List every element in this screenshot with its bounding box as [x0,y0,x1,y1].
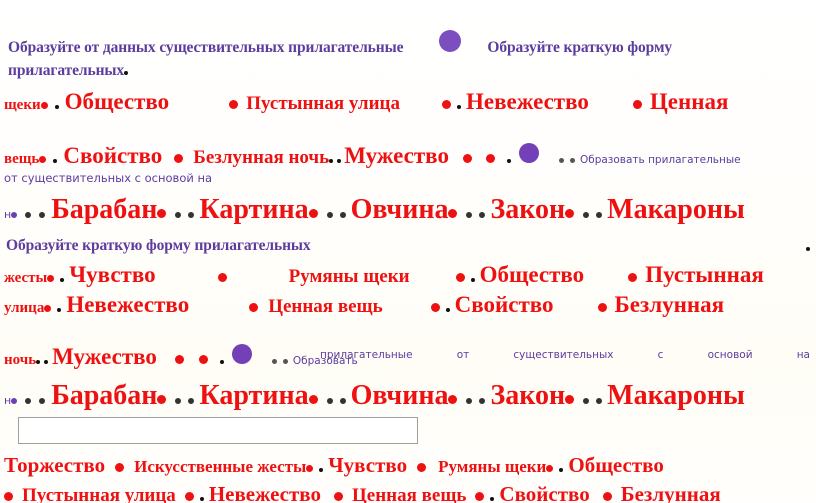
word-item: Закон [490,194,565,226]
red-bullet-icon [598,303,607,312]
word-item: Свойство [499,482,589,503]
word-item: Торжество [4,453,105,478]
word-item: Невежество [466,89,589,115]
red-bullet-icon [175,355,184,364]
black-bullet-icon [596,398,602,404]
word-item: Чувство [69,262,155,288]
black-bullet-icon [39,212,45,218]
stem-letter: н [4,394,11,407]
word-row-a: щеки Общество Пустынная улица Невежество… [4,89,816,115]
heading-line-2: прилагательных [8,62,124,80]
black-bullet-icon [319,468,323,472]
red-bullet-icon [4,492,13,501]
word-item: Овчина [351,194,449,226]
word-row-h: Торжество Искусственные жесты Чувство Ру… [4,453,816,478]
word-item: Свойство [455,292,554,318]
word-item: жесты [4,270,47,287]
word-row-g: н Барабан Картина Овчина Закон [4,380,816,412]
word-item: Безлунная [615,292,725,318]
slide-canvas: Образуйте от данных существительных прил… [0,0,816,503]
purple-bullet-icon [439,30,461,52]
word-item: Ценная вещь [352,485,466,503]
black-bullet-icon [327,398,333,404]
word-item: Макароны [607,194,745,226]
red-bullet-icon [229,100,238,109]
purple-bullet-icon [232,344,252,364]
word-item: Ценная вещь [268,296,382,318]
red-bullet-icon [39,156,46,163]
heading-line-1-row: Образуйте от данных существительных прил… [8,30,816,58]
black-bullet-icon [200,497,204,501]
word-row-i: Пустынная улица Невежество Ценная вещь С… [4,482,816,503]
word-item: Овчина [351,380,449,412]
black-bullet-icon [55,105,59,109]
instruction-word: основой [708,349,753,361]
instruction-form-adjectives: Образовать прилагательные [580,154,741,166]
word-item: Барабан [51,194,157,226]
red-bullet-icon [463,154,472,163]
instruction-justified-row: прилагательные от существительных с осно… [320,349,810,361]
black-bullet-icon [220,360,224,364]
heading-line-1-right: Образуйте краткую форму [487,39,672,57]
word-row-c: н Барабан Картина Овчина Закон [4,194,816,226]
heading-line-3-row: Образуйте краткую форму прилагательных [6,237,816,255]
stem-letter: н [4,208,11,221]
word-item: Чувство [328,453,407,478]
red-bullet-icon [306,465,313,472]
word-item: Картина [199,380,308,412]
red-bullet-icon [442,100,451,109]
word-item: Пустынная улица [246,93,400,115]
word-item: улица [4,300,44,317]
instruction-word: с [658,349,664,361]
red-bullet-icon [603,492,612,501]
red-bullet-icon [115,463,124,472]
word-item: Общество [568,453,663,478]
black-bullet-icon [39,398,45,404]
word-item: Румяны щеки [438,457,546,477]
instruction-from-nouns-row: от существительных с основой на [4,171,816,185]
trailing-black-bullet [806,240,810,258]
red-bullet-icon [157,209,166,218]
black-bullet-icon [53,159,57,163]
black-bullet-icon [25,398,31,404]
red-bullet-icon [41,102,48,109]
purple-bullet-icon [519,143,539,163]
word-item: ночь [4,352,36,369]
black-bullet-icon [337,159,341,163]
red-bullet-icon [417,463,426,472]
red-bullet-icon [47,275,54,282]
instruction-from-nouns: от существительных с основой на [4,171,212,185]
black-bullet-icon [340,398,346,404]
red-bullet-icon [199,355,208,364]
black-bullet-icon [490,497,494,501]
red-bullet-icon [475,492,484,501]
black-bullet-icon [471,278,475,282]
word-item: Пустынная [645,262,764,288]
gray-bullet-icon [559,158,564,163]
black-bullet-icon [583,212,589,218]
heading-line-3: Образуйте краткую форму прилагательных [6,237,311,255]
answer-input[interactable] [18,417,418,444]
black-bullet-icon [175,212,181,218]
red-bullet-icon [334,492,343,501]
word-item: Румяны щеки [289,266,410,288]
red-bullet-icon [309,395,318,404]
black-bullet-icon [188,212,194,218]
instruction-word: от [457,349,470,361]
word-item: Безлунная [621,482,721,503]
word-row-b: вещь Свойство Безлунная ночь Мужество Об… [4,143,816,169]
red-bullet-icon [431,303,440,312]
red-bullet-icon [486,154,495,163]
black-bullet-icon [479,212,485,218]
black-bullet-icon [466,398,472,404]
gray-bullet-icon [283,359,288,364]
purple-bullet-icon [11,398,17,404]
instruction-word: на [797,349,810,361]
heading-line-2-row: прилагательных [8,62,816,80]
red-bullet-icon [565,395,574,404]
instruction-word: прилагательные [320,349,413,361]
word-item: Пустынная улица [22,485,176,503]
word-item: Барабан [51,380,157,412]
red-bullet-icon [309,209,318,218]
word-item: Искусственные жесты [134,457,306,477]
black-bullet-icon [327,212,333,218]
red-bullet-icon [448,209,457,218]
purple-bullet-icon [11,212,17,218]
red-bullet-icon [628,273,637,282]
word-item: Невежество [209,482,321,503]
black-bullet-icon [559,468,563,472]
word-item: вещь [4,151,39,168]
black-bullet-icon [340,212,346,218]
red-bullet-icon [565,209,574,218]
black-bullet-icon [60,278,64,282]
word-item: Невежество [66,292,189,318]
black-bullet-icon [507,159,511,163]
black-bullet-icon [466,212,472,218]
word-item: Безлунная ночь [193,147,329,169]
word-item: Картина [199,194,308,226]
word-item: Закон [490,380,565,412]
red-bullet-icon [633,100,642,109]
red-bullet-icon [157,395,166,404]
red-bullet-icon [456,273,465,282]
word-row-e: улица Невежество Ценная вещь Свойство Бе… [4,292,816,318]
black-bullet-icon [446,308,450,312]
black-bullet-icon [479,398,485,404]
black-bullet-icon [188,398,194,404]
red-bullet-icon [546,465,553,472]
red-bullet-icon [448,395,457,404]
word-item: Общество [65,89,170,115]
black-bullet-icon [329,159,333,163]
gray-bullet-icon [272,359,277,364]
heading-line-1: Образуйте от данных существительных прил… [8,39,403,57]
black-bullet-icon [596,212,602,218]
word-item: щеки [4,97,41,114]
black-bullet-icon [44,360,48,364]
word-row-d: жесты Чувство Румяны щеки Общество Пусты… [4,262,816,288]
red-bullet-icon [174,154,183,163]
black-bullet-icon [124,71,128,75]
black-bullet-icon [57,308,61,312]
black-bullet-icon [25,212,31,218]
word-item: Мужество [52,344,157,370]
red-bullet-icon [185,492,194,501]
word-item: Ценная [650,89,729,115]
word-item: Свойство [63,143,162,169]
black-bullet-icon [457,105,461,109]
word-item: Макароны [607,380,745,412]
word-item: Общество [480,262,585,288]
word-item: Мужество [344,143,449,169]
instruction-word: существительных [513,349,613,361]
black-bullet-icon [583,398,589,404]
red-bullet-icon [44,305,51,312]
gray-bullet-icon [570,158,575,163]
red-bullet-icon [249,303,258,312]
black-bullet-icon [175,398,181,404]
red-bullet-icon [218,273,227,282]
black-bullet-icon [36,360,40,364]
